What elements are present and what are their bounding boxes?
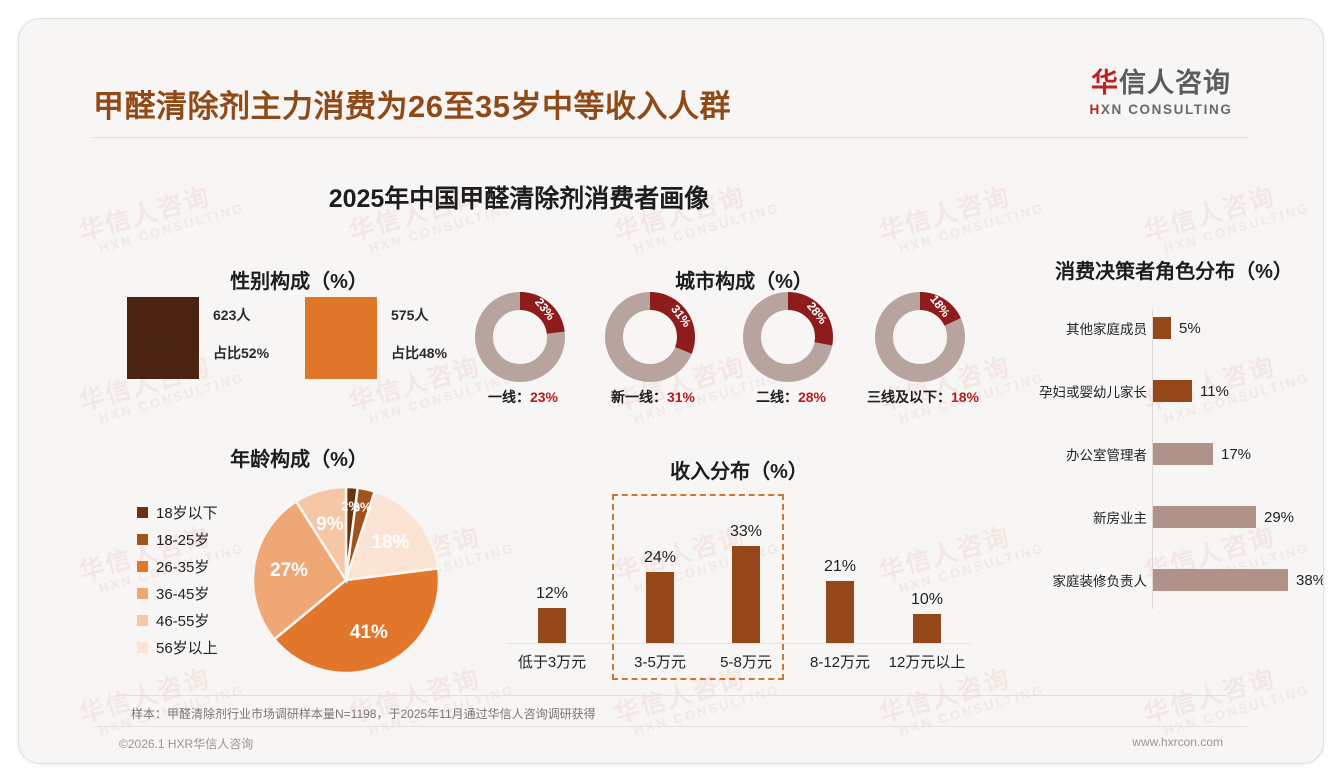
donut-svg <box>742 291 840 383</box>
income-category-label: 5-8万元 <box>694 651 798 672</box>
watermark-cn: 华信人咨询 <box>1142 175 1308 246</box>
role-bar-row: 家庭装修负责人38% <box>1019 569 1324 591</box>
page-title: 甲醛清除剂主力消费为26至35岁中等收入人群 <box>93 81 731 126</box>
male-silhouette-icon <box>127 297 199 379</box>
legend-label: 18-25岁 <box>156 529 209 550</box>
role-value-label: 11% <box>1200 383 1229 400</box>
donut-caption-value: 31% <box>667 389 695 405</box>
role-bar-row: 办公室管理者17% <box>1019 443 1324 465</box>
income-value-label: 12% <box>504 585 600 603</box>
income-bar-group: 24% <box>612 549 708 643</box>
income-bar-group: 10% <box>879 591 975 643</box>
logo-cn-highlight: 华 <box>1091 68 1119 98</box>
person-body <box>308 347 374 379</box>
donut-caption: 三线及以下：18% <box>867 387 979 407</box>
website-url: www.hxrcon.com <box>1132 735 1223 749</box>
city-donut-1: 23%一线：23% <box>474 291 572 383</box>
age-legend: 18岁以下18-25岁26-35岁36-45岁46-55岁56岁以上 <box>137 499 218 661</box>
watermark-en: HXN CONSULTING <box>1162 682 1311 738</box>
income-category-label: 12万元以上 <box>875 651 979 672</box>
donut-caption-name: 三线及以下： <box>867 389 951 405</box>
role-value-label: 17% <box>1221 446 1251 463</box>
infographic-canvas: 华信人咨询HXN CONSULTING华信人咨询HXN CONSULTING华信… <box>0 0 1340 780</box>
legend-swatch <box>137 561 148 572</box>
donut-caption-name: 一线： <box>488 389 530 405</box>
income-section-title: 收入分布（%） <box>489 455 989 484</box>
watermark: 华信人咨询HXN CONSULTING <box>77 657 247 742</box>
sample-note: 样本：甲醛清除剂行业市场调研样本量N=1198，于2025年11月通过华信人咨询… <box>131 705 596 722</box>
income-value-label: 10% <box>879 591 975 609</box>
watermark-en: HXN CONSULTING <box>897 682 1046 738</box>
role-section-title: 消费决策者角色分布（%） <box>1014 255 1324 284</box>
age-legend-item: 56岁以上 <box>137 634 218 661</box>
income-bar-chart: 12%低于3万元24%3-5万元33%5-8万元21%8-12万元10%12万元… <box>499 495 979 680</box>
income-category-label: 低于3万元 <box>500 651 604 672</box>
income-bar <box>646 572 674 643</box>
role-bar <box>1153 380 1192 402</box>
logo-en-rest: XN CONSULTING <box>1101 102 1233 117</box>
gender-stats: 575人占比48% <box>391 305 447 363</box>
watermark-en: HXN CONSULTING <box>632 682 781 738</box>
legend-label: 36-45岁 <box>156 583 209 604</box>
role-bar <box>1153 317 1171 339</box>
brand-logo: 华信人咨询 HXN CONSULTING <box>1061 69 1261 117</box>
donut-caption-name: 新一线： <box>611 389 667 405</box>
pie-value-label: 3% <box>353 500 372 515</box>
role-category-label: 家庭装修负责人 <box>1019 570 1153 590</box>
donut-caption-value: 23% <box>530 389 558 405</box>
income-bar <box>538 608 566 643</box>
income-bar <box>913 614 941 643</box>
age-pie-chart: 2%3%18%41%27%9% <box>251 485 441 675</box>
person-body <box>127 337 199 379</box>
pie-value-label: 9% <box>316 514 343 536</box>
logo-cn-rest: 信人咨询 <box>1119 68 1231 98</box>
donut-svg <box>604 291 702 383</box>
legend-swatch <box>137 615 148 626</box>
person-head <box>141 297 185 341</box>
city-section-title: 城市构成（%） <box>474 265 1014 294</box>
slide-card: 华信人咨询HXN CONSULTING华信人咨询HXN CONSULTING华信… <box>18 18 1324 764</box>
watermark-cn: 华信人咨询 <box>1142 657 1308 728</box>
watermark: 华信人咨询HXN CONSULTING <box>1142 657 1312 742</box>
legend-label: 18岁以下 <box>156 502 218 523</box>
person-head <box>317 297 365 351</box>
city-donut-3: 28%二线：28% <box>742 291 840 383</box>
logo-english-text: HXN CONSULTING <box>1061 102 1261 117</box>
role-bar-chart: 其他家庭成员5%孕妇或婴幼儿家长11%办公室管理者17%新房业主29%家庭装修负… <box>1019 309 1324 619</box>
role-bar <box>1153 506 1256 528</box>
income-value-label: 33% <box>698 523 794 541</box>
copyright-text: ©2026.1 HXR华信人咨询 <box>119 735 253 752</box>
age-legend-item: 18-25岁 <box>137 526 218 553</box>
donut-svg <box>874 291 972 383</box>
legend-label: 26-35岁 <box>156 556 209 577</box>
watermark-en: HXN CONSULTING <box>1162 200 1311 256</box>
age-section-title: 年龄构成（%） <box>129 443 469 472</box>
female-silhouette-icon <box>305 297 377 379</box>
pie-value-label: 18% <box>371 532 409 554</box>
role-value-label: 38% <box>1296 572 1324 589</box>
role-category-label: 孕妇或婴幼儿家长 <box>1019 381 1153 401</box>
city-donut-chart: 23%一线：23%31%新一线：31%28%二线：28%18%三线及以下：18% <box>474 291 1014 401</box>
donut-caption: 新一线：31% <box>611 387 695 407</box>
income-bar-group: 12% <box>504 585 600 643</box>
donut-caption: 二线：28% <box>756 387 826 407</box>
income-bar-group: 21% <box>792 558 888 643</box>
income-bar <box>732 546 760 643</box>
role-bar-row: 孕妇或婴幼儿家长11% <box>1019 380 1324 402</box>
donut-caption-value: 28% <box>798 389 826 405</box>
footer-divider <box>97 726 1247 727</box>
city-donut-4: 18%三线及以下：18% <box>874 291 972 383</box>
role-bar-row: 其他家庭成员5% <box>1019 317 1324 339</box>
header-divider <box>93 137 1248 138</box>
age-legend-item: 46-55岁 <box>137 607 218 634</box>
pie-value-label: 41% <box>350 622 388 644</box>
gender-count: 623人 <box>213 305 269 325</box>
donut-caption-value: 18% <box>951 389 979 405</box>
income-value-label: 24% <box>612 549 708 567</box>
age-legend-item: 18岁以下 <box>137 499 218 526</box>
donut-caption-name: 二线： <box>756 389 798 405</box>
age-legend-item: 36-45岁 <box>137 580 218 607</box>
logo-chinese-text: 华信人咨询 <box>1061 69 1261 99</box>
income-value-label: 21% <box>792 558 888 576</box>
logo-en-highlight: H <box>1090 102 1101 117</box>
role-value-label: 5% <box>1179 320 1201 337</box>
role-category-label: 其他家庭成员 <box>1019 318 1153 338</box>
legend-label: 56岁以上 <box>156 637 218 658</box>
gender-section-title: 性别构成（%） <box>139 265 459 294</box>
footnote-divider-top <box>117 695 1227 696</box>
role-bar-row: 新房业主29% <box>1019 506 1324 528</box>
legend-label: 46-55岁 <box>156 610 209 631</box>
gender-stats: 623人占比52% <box>213 305 269 363</box>
legend-swatch <box>137 507 148 518</box>
age-legend-item: 26-35岁 <box>137 553 218 580</box>
watermark: 华信人咨询HXN CONSULTING <box>1142 175 1312 260</box>
legend-swatch <box>137 534 148 545</box>
role-category-label: 新房业主 <box>1019 507 1153 527</box>
role-category-label: 办公室管理者 <box>1019 444 1153 464</box>
gender-share: 占比52% <box>213 343 269 363</box>
legend-swatch <box>137 588 148 599</box>
header: 甲醛清除剂主力消费为26至35岁中等收入人群 华信人咨询 HXN CONSULT… <box>19 19 1323 129</box>
donut-caption: 一线：23% <box>488 387 558 407</box>
income-bar-group: 33% <box>698 523 794 643</box>
role-bar <box>1153 443 1213 465</box>
donut-svg <box>474 291 572 383</box>
legend-swatch <box>137 642 148 653</box>
gender-share: 占比48% <box>391 343 447 363</box>
role-value-label: 29% <box>1264 509 1294 526</box>
role-bar <box>1153 569 1288 591</box>
income-bar <box>826 581 854 643</box>
gender-chart: 623人占比52%575人占比48% <box>127 297 487 387</box>
pie-value-label: 27% <box>270 560 308 582</box>
gender-count: 575人 <box>391 305 447 325</box>
city-donut-2: 31%新一线：31% <box>604 291 702 383</box>
chart-subtitle: 2025年中国甲醛清除剂消费者画像 <box>19 179 1019 215</box>
